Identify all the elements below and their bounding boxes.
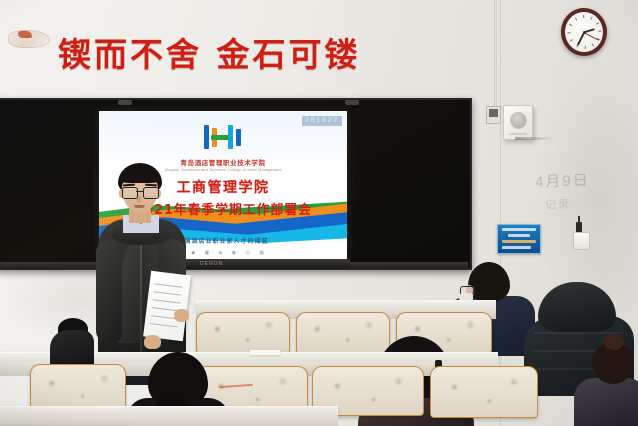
- chair-back-front-1[interactable]: [30, 364, 126, 412]
- speaker-cone-icon: [511, 113, 526, 128]
- chair-back-mid-2[interactable]: [296, 312, 390, 354]
- presenter-mouth: [134, 205, 145, 208]
- presenter-hand-left: [144, 335, 161, 349]
- presenter-nose: [137, 196, 141, 203]
- wall-slogan-text: 锲而不舍 金石可镂: [58, 32, 408, 80]
- clock-face: [564, 11, 604, 53]
- college-h-logo-icon: [202, 125, 244, 149]
- projector-brand-label: DENON: [200, 261, 223, 267]
- sign-line-4: [502, 246, 531, 249]
- speaker-shadow: [515, 137, 555, 140]
- wall-seam-vertical: [500, 0, 501, 426]
- audience-5-torso: [574, 378, 638, 426]
- wall-seam-upper: [494, 0, 497, 110]
- chair-back-front-4[interactable]: [430, 366, 538, 418]
- presenter-hair-fringe: [119, 169, 161, 183]
- sign-line-2: [508, 234, 530, 237]
- audience-5-hair-bun: [604, 334, 624, 350]
- classroom-photo: 4月9日 记录 锲而不舍 金石可镂: [0, 0, 638, 426]
- blackboard-corner-card: [486, 106, 501, 124]
- blue-notice-sign: [497, 224, 541, 254]
- desk-row-front-front: [0, 416, 338, 426]
- wall-clock: [560, 7, 608, 57]
- blackboard-clip-right: [345, 100, 359, 105]
- screen-watermark: 201627: [302, 116, 342, 126]
- presenter-arm-left: [96, 239, 122, 343]
- presenter-held-papers: [143, 271, 191, 341]
- power-outlet: [573, 232, 590, 250]
- desk-paper-2: [250, 350, 280, 355]
- presenter-figure: [92, 163, 192, 363]
- presenter-hand-right: [174, 309, 189, 322]
- wall-speaker-box: [503, 105, 533, 140]
- chair-back-mid-1[interactable]: [196, 312, 290, 354]
- sign-line-3: [502, 240, 536, 243]
- sign-line-1: [502, 228, 536, 231]
- blackboard-clip-left: [118, 100, 132, 105]
- audience-1-head: [468, 262, 510, 302]
- speaker-vent: [509, 133, 527, 135]
- wall-scribble-1: 4月9日: [535, 169, 590, 192]
- wall-scribble-2: 记录: [545, 196, 572, 213]
- presenter-jacket-zipper: [140, 237, 142, 355]
- peeled-paint-red-remnant: [18, 31, 32, 38]
